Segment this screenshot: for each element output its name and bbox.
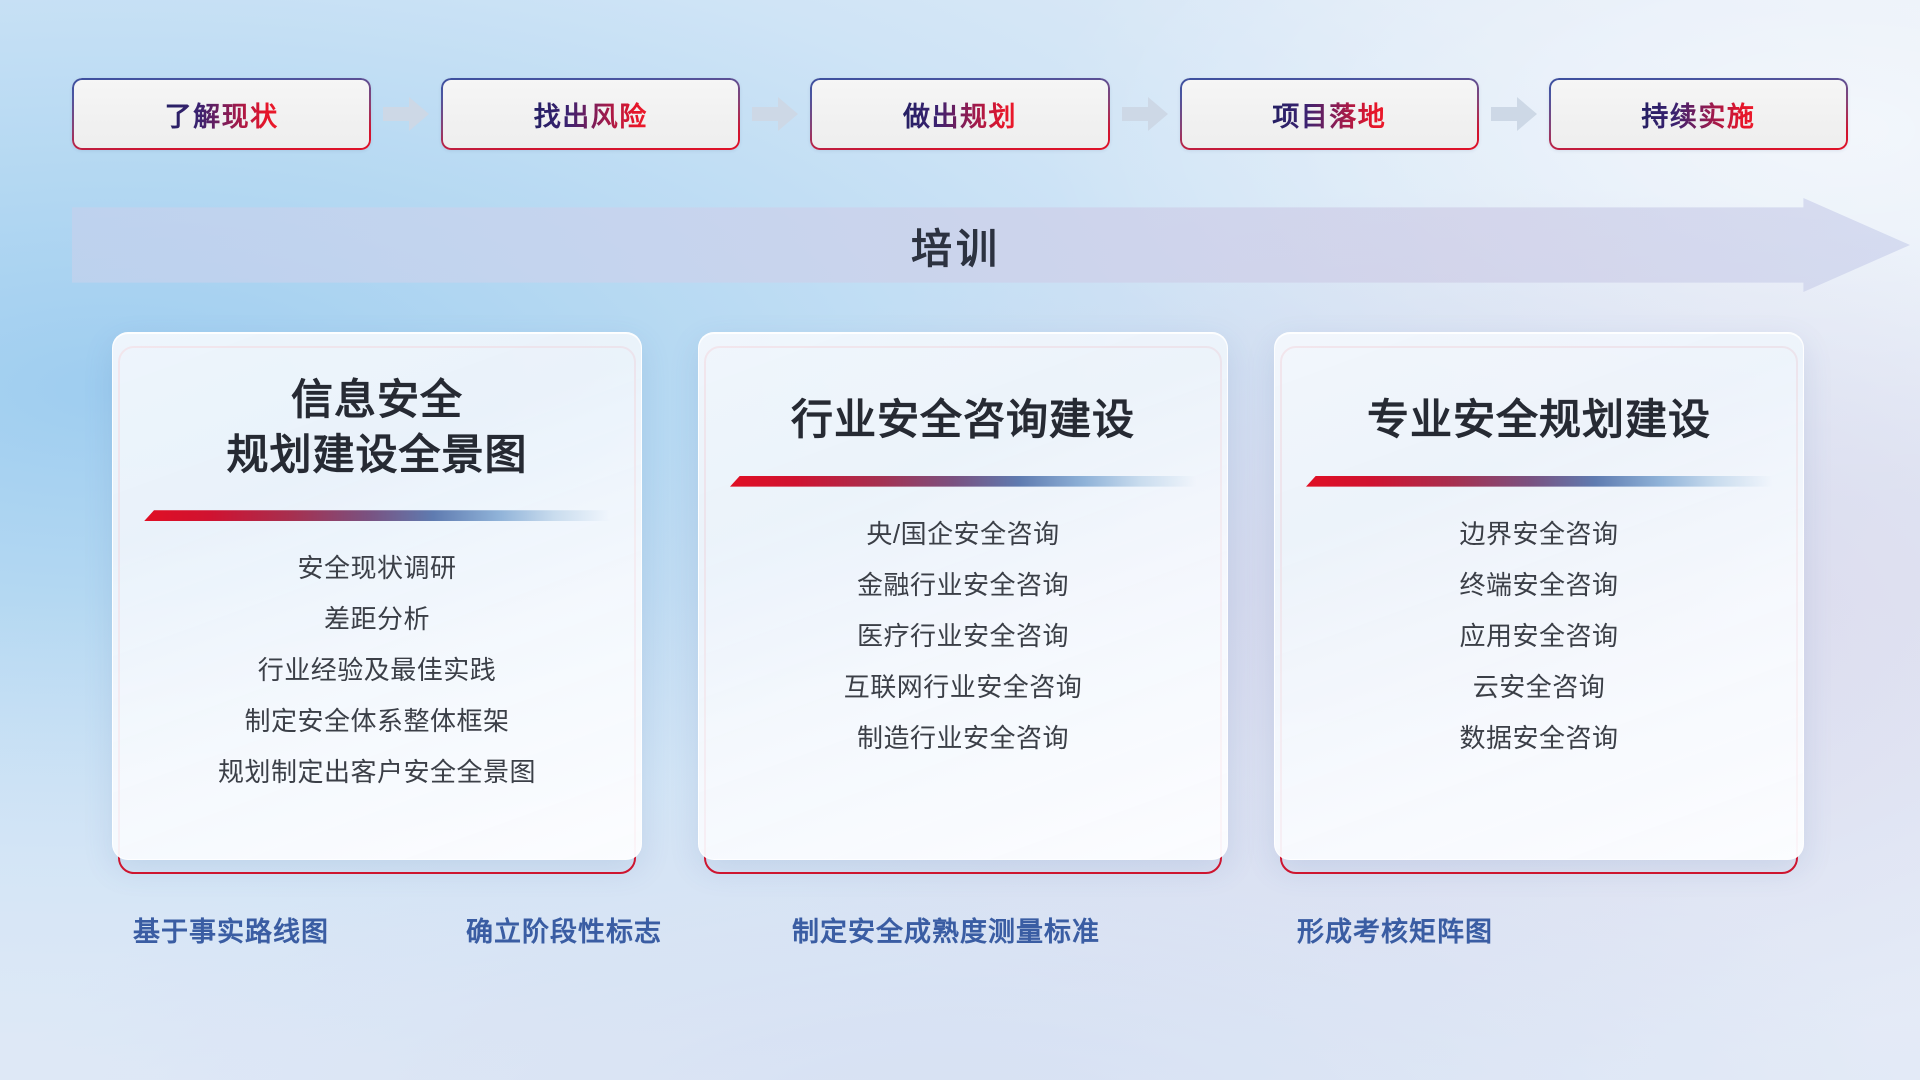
card-industry-security-consulting[interactable]: 行业安全咨询建设 央/国企安全咨询 金融行业安全咨询 医疗行业安全咨询 互联网行… bbox=[698, 332, 1228, 874]
card-divider bbox=[144, 510, 610, 521]
card-title-line: 信息安全 bbox=[226, 373, 527, 428]
process-step-2[interactable]: 找出风险 bbox=[441, 78, 740, 150]
card-professional-security-planning[interactable]: 专业安全规划建设 边界安全咨询 终端安全咨询 应用安全咨询 云安全咨询 数据安全… bbox=[1274, 332, 1804, 874]
footer-label-row: 基于事实路线图 确立阶段性标志 制定安全成熟度测量标准 形成考核矩阵图 bbox=[0, 910, 1920, 980]
banner-title: 培训 bbox=[72, 198, 1840, 292]
process-step-label: 项目落地 bbox=[1272, 95, 1386, 134]
process-step-3[interactable]: 做出规划 bbox=[810, 78, 1109, 150]
arrow-right-icon bbox=[1110, 78, 1180, 150]
list-item: 边界安全咨询 bbox=[1459, 509, 1618, 560]
process-step-4[interactable]: 项目落地 bbox=[1180, 78, 1479, 150]
card-row: 信息安全 规划建设全景图 安全现状调研 差距分析 行业经验及最佳实践 制定安全体… bbox=[0, 332, 1920, 874]
list-item: 云安全咨询 bbox=[1473, 662, 1606, 713]
list-item: 差距分析 bbox=[324, 594, 430, 645]
list-item: 制定安全体系整体框架 bbox=[244, 696, 509, 747]
arrow-right-icon bbox=[371, 78, 441, 150]
card-item-list: 边界安全咨询 终端安全咨询 应用安全咨询 云安全咨询 数据安全咨询 bbox=[1275, 509, 1803, 764]
list-item: 制造行业安全咨询 bbox=[857, 713, 1069, 764]
list-item: 行业经验及最佳实践 bbox=[258, 645, 497, 696]
card-title: 信息安全 规划建设全景图 bbox=[226, 373, 527, 482]
card-title: 行业安全咨询建设 bbox=[791, 393, 1135, 448]
card-information-security-blueprint[interactable]: 信息安全 规划建设全景图 安全现状调研 差距分析 行业经验及最佳实践 制定安全体… bbox=[112, 332, 642, 874]
process-step-row: 了解现状 找出风险 做出规划 项目落地 持续实施 bbox=[72, 78, 1848, 150]
footer-label-3: 制定安全成熟度测量标准 bbox=[792, 910, 1100, 949]
footer-label-4: 形成考核矩阵图 bbox=[1297, 910, 1493, 949]
card-item-list: 央/国企安全咨询 金融行业安全咨询 医疗行业安全咨询 互联网行业安全咨询 制造行… bbox=[699, 509, 1227, 764]
footer-label-1: 基于事实路线图 bbox=[133, 910, 329, 949]
list-item: 规划制定出客户安全全景图 bbox=[218, 747, 536, 798]
card-title-line: 行业安全咨询建设 bbox=[791, 393, 1135, 448]
list-item: 金融行业安全咨询 bbox=[857, 560, 1069, 611]
training-banner: 培训 bbox=[72, 198, 1910, 292]
process-step-label: 找出风险 bbox=[534, 95, 648, 134]
process-step-label: 了解现状 bbox=[165, 95, 279, 134]
footer-label-2: 确立阶段性标志 bbox=[466, 910, 662, 949]
card-title: 专业安全规划建设 bbox=[1367, 393, 1711, 448]
list-item: 医疗行业安全咨询 bbox=[857, 611, 1069, 662]
list-item: 互联网行业安全咨询 bbox=[844, 662, 1083, 713]
arrow-right-icon bbox=[740, 78, 810, 150]
list-item: 应用安全咨询 bbox=[1459, 611, 1618, 662]
card-surface: 信息安全 规划建设全景图 安全现状调研 差距分析 行业经验及最佳实践 制定安全体… bbox=[112, 332, 642, 860]
card-surface: 专业安全规划建设 边界安全咨询 终端安全咨询 应用安全咨询 云安全咨询 数据安全… bbox=[1274, 332, 1804, 860]
process-step-label: 持续实施 bbox=[1641, 95, 1755, 134]
process-step-1[interactable]: 了解现状 bbox=[72, 78, 371, 150]
card-title-line: 专业安全规划建设 bbox=[1367, 393, 1711, 448]
card-divider bbox=[1306, 476, 1772, 487]
card-title-line: 规划建设全景图 bbox=[226, 428, 527, 483]
process-step-label: 做出规划 bbox=[903, 95, 1017, 134]
list-item: 安全现状调研 bbox=[297, 543, 456, 594]
arrow-right-icon bbox=[1479, 78, 1549, 150]
list-item: 终端安全咨询 bbox=[1459, 560, 1618, 611]
process-step-5[interactable]: 持续实施 bbox=[1549, 78, 1848, 150]
list-item: 央/国企安全咨询 bbox=[866, 509, 1059, 560]
card-divider bbox=[730, 476, 1196, 487]
list-item: 数据安全咨询 bbox=[1459, 713, 1618, 764]
card-item-list: 安全现状调研 差距分析 行业经验及最佳实践 制定安全体系整体框架 规划制定出客户… bbox=[113, 543, 641, 798]
card-surface: 行业安全咨询建设 央/国企安全咨询 金融行业安全咨询 医疗行业安全咨询 互联网行… bbox=[698, 332, 1228, 860]
